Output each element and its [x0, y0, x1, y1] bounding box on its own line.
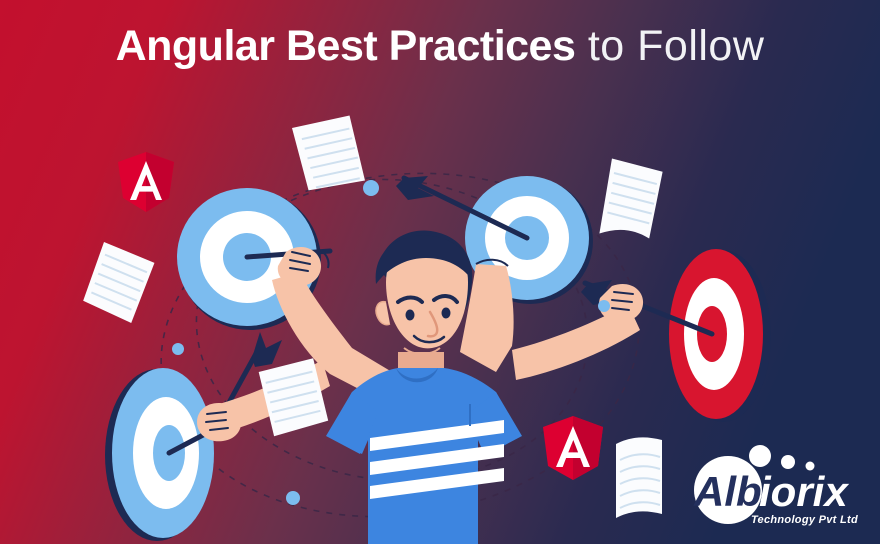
target-right — [669, 249, 771, 422]
orbit-dot-bottom — [286, 491, 300, 505]
logo-tagline: Technology Pvt Ltd — [751, 514, 858, 526]
title-bold-text: Angular Best Practices — [116, 22, 576, 70]
logo-mark-dark: Alb — [693, 468, 762, 515]
title-light-text: to Follow — [575, 22, 764, 70]
banner-title: Angular Best Practices to Follow — [0, 22, 880, 71]
logo-bubbles — [749, 445, 815, 471]
albiorix-logo[interactable]: Alb iorix Technology Pvt Ltd — [664, 440, 864, 530]
logo-name-white: iorix — [759, 468, 849, 515]
orbit-dot-top — [363, 180, 379, 196]
orbit-dot-right — [598, 300, 610, 312]
banner-image: Angular Best Practices to Follow Alb ior… — [0, 0, 880, 544]
orbit-dot-left — [172, 343, 184, 355]
target-lower-left — [105, 368, 214, 541]
